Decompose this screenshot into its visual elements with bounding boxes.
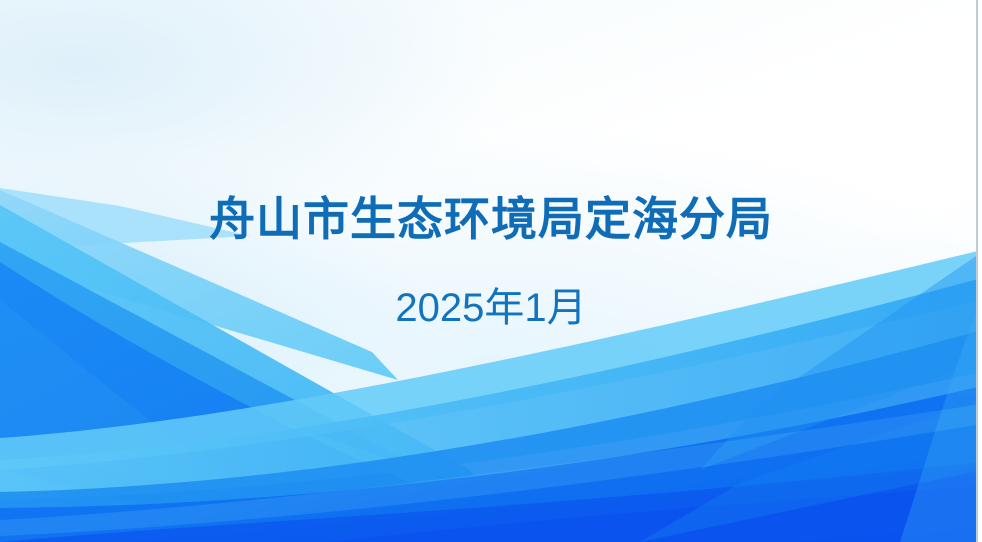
page-edge-margin bbox=[978, 0, 982, 542]
page-title: 舟山市生态环境局定海分局 bbox=[209, 192, 773, 246]
slide-subtitle-date: 2025年1月 bbox=[395, 286, 586, 330]
title-slide: 舟山市生态环境局定海分局 2025年1月 bbox=[0, 0, 982, 542]
page-edge-line bbox=[976, 0, 978, 542]
slide-content: 舟山市生态环境局定海分局 2025年1月 bbox=[0, 0, 982, 542]
